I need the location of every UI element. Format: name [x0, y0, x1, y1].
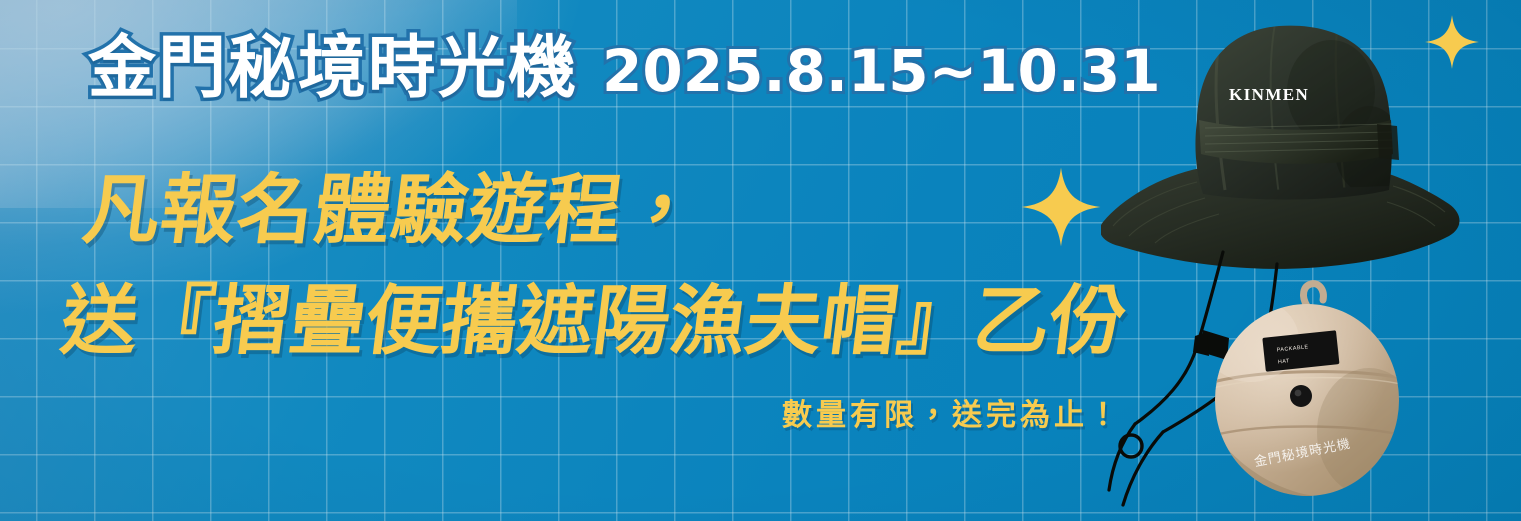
page-title: 金門秘境時光機 [88, 33, 578, 104]
campaign-date-range: 2025.8.15~10.31 [602, 37, 1161, 105]
promo-banner: 金門秘境時光機 2025.8.15~10.31 凡報名體驗遊程， 送『摺疊便攜遮… [0, 0, 1521, 521]
limited-stock-note: 數量有限，送完為止！ [782, 390, 1122, 434]
headline-line-2: 送『摺疊便攜遮陽漁夫帽』乙份 [57, 283, 1130, 359]
copy-block: 金門秘境時光機 2025.8.15~10.31 凡報名體驗遊程， 送『摺疊便攜遮… [0, 0, 1160, 521]
headline-line-1: 凡報名體驗遊程， [79, 172, 704, 248]
title-row: 金門秘境時光機 2025.8.15~10.31 [88, 33, 1161, 105]
